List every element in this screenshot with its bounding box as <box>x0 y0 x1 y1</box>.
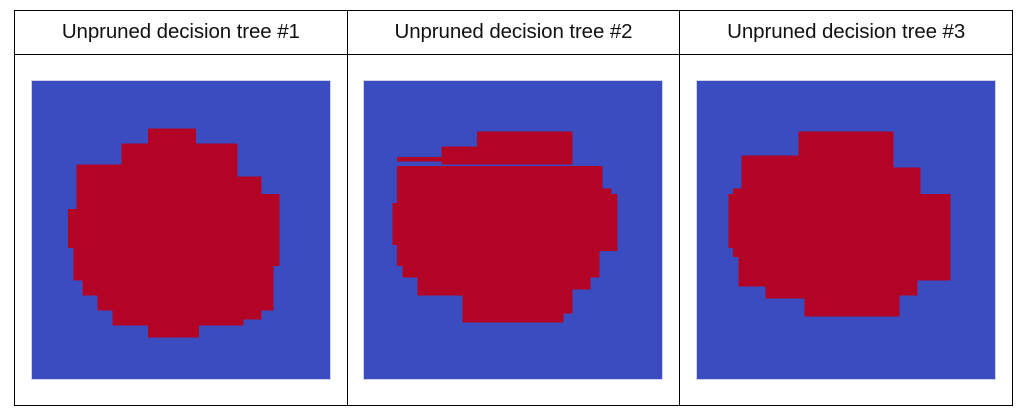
class-1-region <box>112 311 261 320</box>
class-1-region <box>82 281 273 296</box>
plot-wrapper-3 <box>680 56 1012 405</box>
class-1-region <box>463 296 573 314</box>
class-1-region <box>393 203 618 245</box>
class-1-region <box>798 132 893 156</box>
class-1-region <box>74 266 274 281</box>
plot-wrapper-1 <box>15 56 347 405</box>
class-1-region <box>442 157 573 164</box>
class-1-region <box>418 290 573 296</box>
class-1-region <box>121 144 237 165</box>
class-1-region <box>77 176 262 194</box>
class-1-region <box>478 132 573 147</box>
class-1-region <box>397 157 445 161</box>
class-1-region <box>397 166 603 176</box>
plot-cell-tree-2 <box>347 55 680 406</box>
class-1-region <box>804 299 899 317</box>
figure-page: Unpruned decision tree #1 Unpruned decis… <box>0 0 1028 418</box>
class-1-region <box>77 164 238 176</box>
class-1-region <box>418 278 591 290</box>
table-plot-row <box>15 55 1013 406</box>
class-1-region <box>463 313 564 322</box>
class-1-region <box>397 188 612 194</box>
table-header-row: Unpruned decision tree #1 Unpruned decis… <box>15 11 1013 55</box>
class-1-region <box>397 194 618 203</box>
class-1-region <box>97 296 273 311</box>
header-cell-tree-1: Unpruned decision tree #1 <box>15 11 348 55</box>
header-cell-tree-3: Unpruned decision tree #3 <box>680 11 1013 55</box>
decision-boundary-plot-2 <box>364 81 662 379</box>
plot-cell-tree-3 <box>680 55 1013 406</box>
class-1-region <box>397 176 603 188</box>
class-1-region <box>148 129 196 144</box>
decision-boundary-plot-3 <box>697 81 995 379</box>
class-1-region <box>739 281 918 287</box>
class-1-region <box>112 319 243 325</box>
decision-tree-panel-table: Unpruned decision tree #1 Unpruned decis… <box>14 10 1013 406</box>
class-1-region <box>397 245 618 251</box>
plot-cell-tree-1 <box>15 55 348 406</box>
class-1-region <box>397 251 600 266</box>
class-1-region <box>742 167 921 188</box>
class-1-region <box>728 194 950 209</box>
class-1-region <box>742 156 894 168</box>
header-cell-tree-2: Unpruned decision tree #2 <box>347 11 680 55</box>
class-1-region <box>728 209 950 248</box>
class-1-region <box>766 296 900 299</box>
class-1-region <box>77 194 280 209</box>
class-1-region <box>733 248 951 257</box>
plot-wrapper-2 <box>348 56 680 405</box>
decision-boundary-plot-1 <box>32 81 330 379</box>
class-1-region <box>403 266 600 278</box>
class-1-region <box>74 248 280 266</box>
class-1-region <box>766 287 918 296</box>
class-1-region <box>68 209 280 248</box>
class-1-region <box>148 325 199 337</box>
class-1-region <box>739 257 951 281</box>
class-1-region <box>733 188 921 194</box>
